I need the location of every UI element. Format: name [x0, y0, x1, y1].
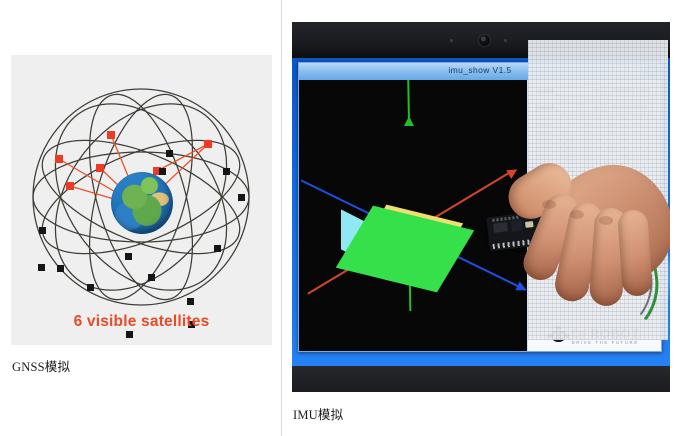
page-root: 6 visible satellites GNSS模拟 imu_show V1.… — [0, 0, 677, 436]
imu-photo[interactable]: imu_show V1.5 – □ ✕ — [292, 22, 670, 392]
webcam-indicator-left — [450, 39, 453, 42]
imu-caption: IMU模拟 — [293, 404, 343, 423]
imu-orientation-slab — [337, 204, 487, 284]
visible-satellites-label: 6 visible satellites — [11, 313, 272, 331]
hand — [510, 152, 670, 362]
webcam-indicator-right — [504, 39, 507, 42]
gnss-column: 6 visible satellites GNSS模拟 — [0, 0, 281, 436]
imu-column: imu_show V1.5 – □ ✕ — [282, 0, 677, 436]
laptop-lower-bezel — [292, 366, 670, 392]
gnss-caption: GNSS模拟 — [12, 356, 70, 375]
y-axis-arrow-icon — [404, 116, 414, 126]
webcam-icon — [479, 35, 490, 46]
orientation-3d-viewport[interactable] — [299, 80, 528, 351]
earth-globe — [111, 172, 173, 234]
gnss-figure[interactable]: 6 visible satellites — [11, 55, 272, 345]
